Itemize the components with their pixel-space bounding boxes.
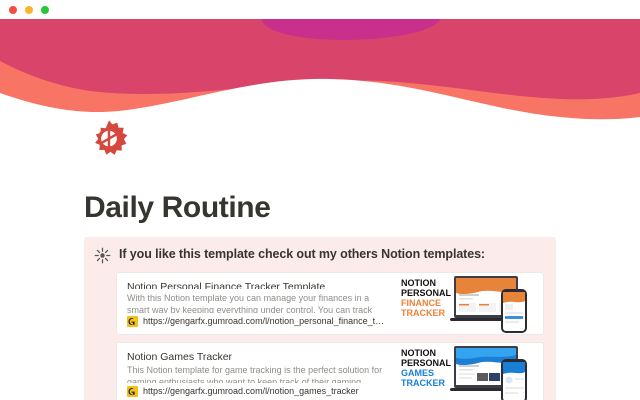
page-cover-banner — [0, 19, 640, 120]
sparkle-icon — [94, 247, 111, 264]
browser-window: Daily Routine — [0, 0, 640, 400]
bookmark-title: Notion Games Tracker — [127, 351, 387, 361]
bookmark-thumbnail: NOTION PERSONAL FINANCE TRACKER — [397, 273, 543, 334]
page-title: Daily Routine — [84, 190, 271, 226]
bookmark-info: Notion Personal Finance Tracker Template… — [117, 273, 397, 334]
gear-icon[interactable] — [86, 118, 132, 164]
gumroad-favicon — [127, 316, 138, 327]
svg-text:GAMES: GAMES — [401, 368, 434, 378]
traffic-light-buttons — [9, 6, 49, 14]
minimize-window-button[interactable] — [25, 6, 33, 14]
svg-text:NOTION: NOTION — [401, 348, 436, 358]
maximize-window-button[interactable] — [41, 6, 49, 14]
svg-text:NOTION: NOTION — [401, 278, 436, 288]
svg-text:TRACKER: TRACKER — [401, 378, 445, 388]
bookmark-link-row: https://gengarfx.gumroad.com/l/notion_ga… — [127, 386, 387, 397]
bookmark-description: With this Notion template you can manage… — [127, 292, 387, 313]
bookmark-card-games-tracker[interactable]: Notion Games Tracker This Notion templat… — [116, 342, 544, 400]
bookmark-url: https://gengarfx.gumroad.com/l/notion_ga… — [143, 386, 359, 397]
close-window-button[interactable] — [9, 6, 17, 14]
bookmark-title: Notion Personal Finance Tracker Template — [127, 281, 387, 289]
callout-text: If you like this template check out my o… — [119, 246, 485, 263]
bookmark-link-row: https://gengarfx.gumroad.com/l/notion_pe… — [127, 316, 387, 327]
bookmark-url: https://gengarfx.gumroad.com/l/notion_pe… — [143, 316, 387, 327]
bookmark-description: This Notion template for game tracking i… — [127, 364, 387, 383]
bookmark-list: Notion Personal Finance Tracker Template… — [116, 272, 544, 400]
svg-text:PERSONAL: PERSONAL — [401, 288, 452, 298]
bookmark-info: Notion Games Tracker This Notion templat… — [117, 343, 397, 400]
gumroad-favicon — [127, 386, 138, 397]
bookmark-thumbnail: NOTION PERSONAL GAMES TRACKER — [397, 343, 543, 400]
window-titlebar — [0, 0, 640, 19]
svg-text:TRACKER: TRACKER — [401, 308, 445, 318]
callout-header: If you like this template check out my o… — [94, 246, 544, 264]
svg-text:FINANCE: FINANCE — [401, 298, 441, 308]
callout-block: If you like this template check out my o… — [84, 237, 556, 400]
svg-text:PERSONAL: PERSONAL — [401, 358, 452, 368]
bookmark-card-personal-finance-tracker[interactable]: Notion Personal Finance Tracker Template… — [116, 272, 544, 335]
